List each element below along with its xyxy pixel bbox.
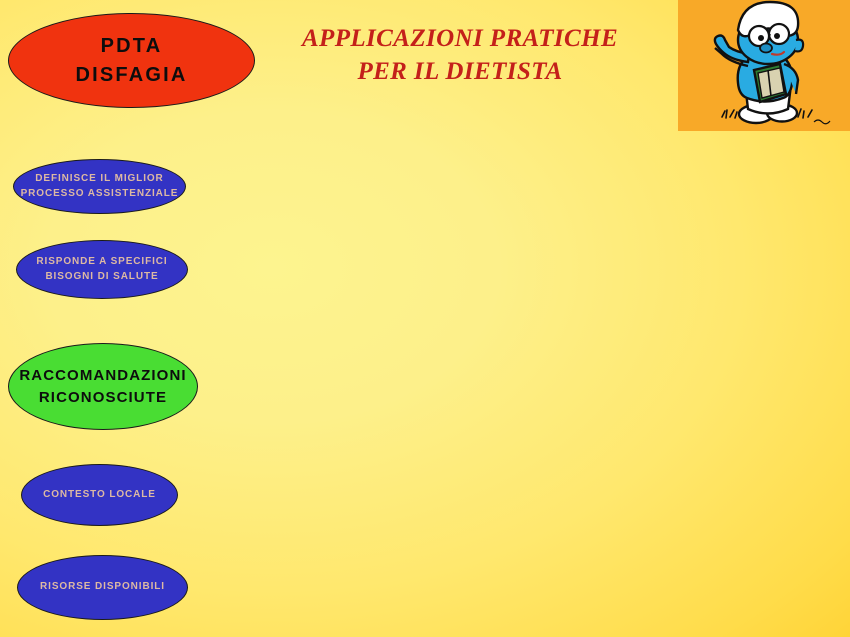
flow-node-label: CONTESTO LOCALE <box>43 488 156 502</box>
brainy-smurf-icon <box>678 0 850 131</box>
pdta-disfagia-label: PDTA DISFAGIA <box>75 32 187 89</box>
flow-node-label: RISORSE DISPONIBILI <box>40 580 165 594</box>
pdta-disfagia-shape[interactable]: PDTA DISFAGIA <box>8 13 255 108</box>
flow-node-label: DEFINISCE IL MIGLIOR PROCESSO ASSISTENZI… <box>21 172 179 200</box>
flow-node-label: RACCOMANDAZIONI RICONOSCIUTE <box>19 365 186 408</box>
flow-node-label: RISPONDE A SPECIFICI BISOGNI DI SALUTE <box>36 255 167 283</box>
flow-node-raccomandazioni-riconosciute[interactable]: RACCOMANDAZIONI RICONOSCIUTE <box>8 343 198 430</box>
flow-node-risponde-specifici-bisogni[interactable]: RISPONDE A SPECIFICI BISOGNI DI SALUTE <box>16 240 188 299</box>
presentation-slide: PDTA DISFAGIA APPLICAZIONI PRATICHE PER … <box>0 0 850 637</box>
mascot-image-frame <box>678 0 850 131</box>
flow-node-definisce-miglior-processo[interactable]: DEFINISCE IL MIGLIOR PROCESSO ASSISTENZI… <box>13 159 186 214</box>
flow-node-contesto-locale[interactable]: CONTESTO LOCALE <box>21 464 178 526</box>
page-title: APPLICAZIONI PRATICHE PER IL DIETISTA <box>258 22 662 88</box>
flow-node-risorse-disponibili[interactable]: RISORSE DISPONIBILI <box>17 555 188 620</box>
